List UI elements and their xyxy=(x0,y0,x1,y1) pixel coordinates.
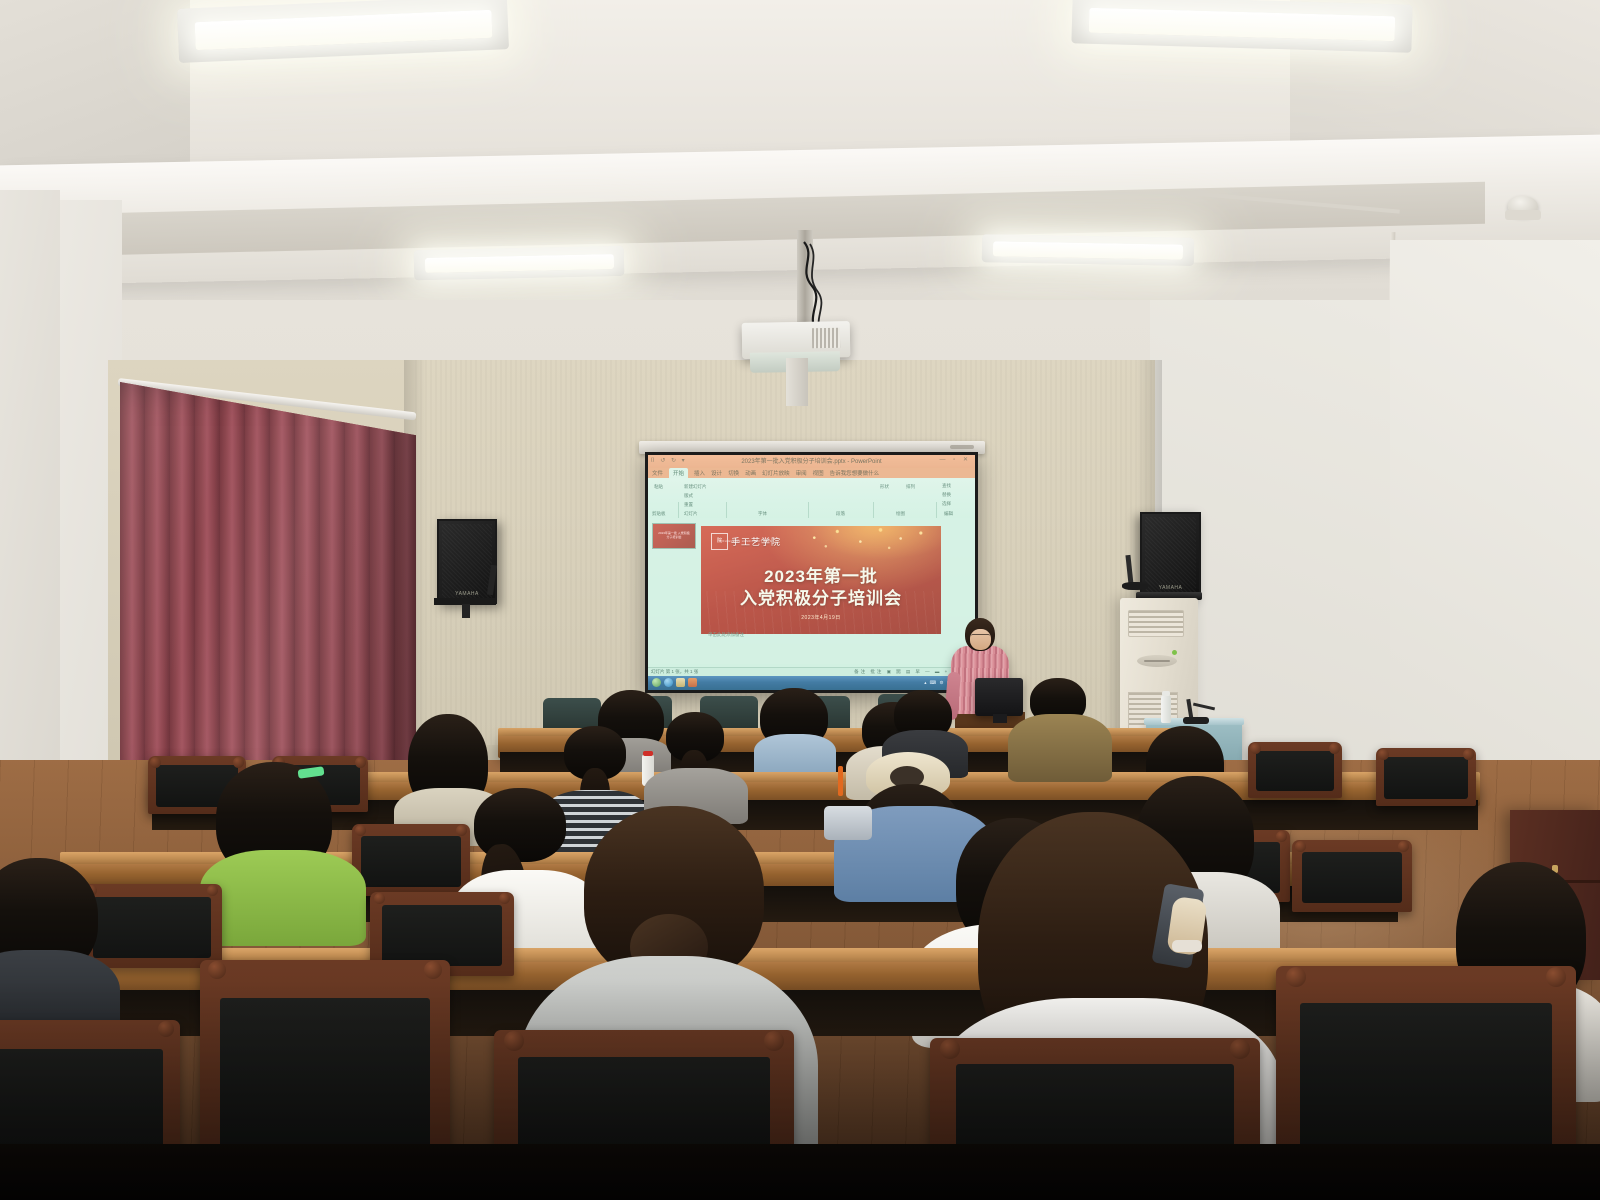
ribbon-new-slide[interactable]: 新建幻灯片 xyxy=(684,484,707,490)
ppt-title-bar: ⌷ ↺ ↻ ▾ 2023年第一批入党积极分子培训会.pptx - PowerPo… xyxy=(648,455,975,468)
tab-tell-me[interactable]: 告诉我您想要做什么 xyxy=(830,469,880,477)
empty-chair-1[interactable] xyxy=(1248,742,1342,798)
tab-design[interactable]: 设计 xyxy=(711,469,722,477)
lectern-monitor-stand xyxy=(993,714,1007,723)
torso xyxy=(1008,714,1112,782)
slide-title-line-2: 入党积极分子培训会 xyxy=(701,584,941,609)
desk-water-bottle-cap xyxy=(643,751,653,756)
desk-microphone-base xyxy=(1183,717,1209,724)
eyeglasses-icon xyxy=(971,634,990,640)
ribbon-group-font: 字体 xyxy=(758,511,767,517)
ribbon-paste[interactable]: 粘贴 xyxy=(654,484,663,490)
ribbon-arrange[interactable]: 排列 xyxy=(906,484,915,490)
slide-date: 2023年4月19日 xyxy=(701,614,941,621)
ppt-quick-access-toolbar[interactable]: ⌷ ↺ ↻ ▾ xyxy=(651,457,687,465)
projection-screen[interactable]: ⌷ ↺ ↻ ▾ 2023年第一批入党积极分子培训会.pptx - PowerPo… xyxy=(648,455,975,690)
ceiling-light-4 xyxy=(982,234,1194,266)
taskbar-icon-group[interactable] xyxy=(652,678,697,687)
ribbon-select[interactable]: 选择 xyxy=(942,501,951,507)
ceiling-light-3 xyxy=(414,246,625,280)
speaker-left-brand: YAMAHA xyxy=(455,591,479,597)
ppt-window-buttons[interactable]: — ▫ ✕ xyxy=(940,456,972,463)
ppt-notes-placeholder[interactable]: 单击此处添加备注 xyxy=(708,632,744,638)
air-conditioner-badge-text xyxy=(1144,660,1170,662)
wall-microphone-base xyxy=(1122,582,1148,590)
tab-file[interactable]: 文件 xyxy=(652,469,663,477)
empty-chair-8[interactable] xyxy=(82,884,222,968)
tab-view[interactable]: 视图 xyxy=(813,469,824,477)
slide-thumbnail-1[interactable]: 2023年第一批 入党积极分子培训会 xyxy=(652,523,696,549)
water-bottle-cap xyxy=(1162,691,1170,696)
windows-taskbar[interactable]: ▴ ⌨ ⚙ ▣ ▮ ♪ 中 xyxy=(648,676,975,690)
tab-animations[interactable]: 动画 xyxy=(745,469,756,477)
empty-chair-2[interactable] xyxy=(1376,748,1476,806)
ribbon-group-editing: 编辑 xyxy=(944,511,953,517)
slide-thumbnail-label: 2023年第一批 入党积极分子培训会 xyxy=(657,531,691,539)
ribbon-group-slides: 幻灯片 xyxy=(684,511,698,517)
speaker-right-grille xyxy=(1145,517,1196,593)
ppt-status-bar: 幻灯片 第 1 张，共 1 张 备注 批注 ▣ 嘂 ▤ 早 — ▬ + 100% xyxy=(648,667,975,676)
classroom-photo-scene: ⌷ ↺ ↻ ▾ 2023年第一批入党积极分子培训会.pptx - PowerPo… xyxy=(0,0,1600,1200)
tab-slideshow[interactable]: 幻灯片放映 xyxy=(762,469,790,477)
ppt-tab-row[interactable]: 文件 开始 插入 设计 切换 动画 幻灯片放映 审阅 视图 告诉我您想要做什么 xyxy=(648,468,975,478)
ppt-editing-area: 2023年第一批 入党积极分子培训会 院 手工艺学院 COLLEGE OF HA… xyxy=(648,518,975,664)
ribbon-group-clipboard: 剪贴板 xyxy=(652,511,666,517)
powerpoint-icon[interactable] xyxy=(688,678,697,687)
empty-chair-7[interactable] xyxy=(1292,840,1412,912)
college-name-en: COLLEGE OF HANDICRAFT ARTS xyxy=(720,540,772,543)
water-bottle xyxy=(1161,695,1171,723)
projector-ceiling-bracket xyxy=(786,358,808,406)
student-bag xyxy=(824,806,872,840)
ribbon-group-drawing: 绘图 xyxy=(896,511,905,517)
tab-insert[interactable]: 插入 xyxy=(694,469,705,477)
smoke-detector-base xyxy=(1505,210,1541,220)
ppt-title-text: 2023年第一批入党积极分子培训会.pptx - PowerPoint xyxy=(741,456,881,465)
tab-home[interactable]: 开始 xyxy=(669,468,688,478)
tab-review[interactable]: 审阅 xyxy=(796,469,807,477)
screen-casing-label xyxy=(950,445,974,449)
tab-transitions[interactable]: 切换 xyxy=(728,469,739,477)
ppt-slide-counter: 幻灯片 第 1 张，共 1 张 xyxy=(651,669,698,675)
projector-vent xyxy=(812,328,840,348)
file-explorer-icon[interactable] xyxy=(676,678,685,687)
ribbon-find[interactable]: 查找 xyxy=(942,483,951,489)
ribbon-layout[interactable]: 版式 xyxy=(684,493,693,499)
empty-chair-5[interactable] xyxy=(352,824,470,896)
lectern-monitor xyxy=(975,678,1023,716)
air-conditioner-power-led xyxy=(1172,650,1177,655)
ribbon-group-paragraph: 段落 xyxy=(836,511,845,517)
curtain-sheen xyxy=(120,382,416,792)
ppt-ribbon[interactable]: 粘贴 剪贴板 新建幻灯片 版式 重置 幻灯片 字体 段落 形状 排列 绘图 查找… xyxy=(648,478,975,519)
wrist-band xyxy=(1172,940,1202,952)
air-conditioner-upper-vent xyxy=(1128,610,1184,637)
torso xyxy=(754,734,836,776)
speaker-right-brand: YAMAHA xyxy=(1159,585,1183,591)
speaker-left-bracket xyxy=(462,604,470,618)
slide-sparkle-decoration xyxy=(797,526,941,565)
torso xyxy=(200,850,366,946)
ppt-slide-thumbnail-pane[interactable]: 2023年第一批 入党积极分子培训会 xyxy=(650,521,696,641)
speaker-right: YAMAHA xyxy=(1140,512,1201,598)
scene-vignette-bottom xyxy=(0,980,1600,1200)
speaker-left-grille xyxy=(442,524,492,599)
start-orb-icon[interactable] xyxy=(652,678,661,687)
ribbon-shapes[interactable]: 形状 xyxy=(880,484,889,490)
pen-on-desk xyxy=(838,766,843,796)
slide-canvas[interactable]: 院 手工艺学院 COLLEGE OF HANDICRAFT ARTS 2023年… xyxy=(701,526,941,634)
ribbon-replace[interactable]: 替换 xyxy=(942,492,951,498)
ribbon-reset[interactable]: 重置 xyxy=(684,502,693,508)
internet-explorer-icon[interactable] xyxy=(664,678,673,687)
